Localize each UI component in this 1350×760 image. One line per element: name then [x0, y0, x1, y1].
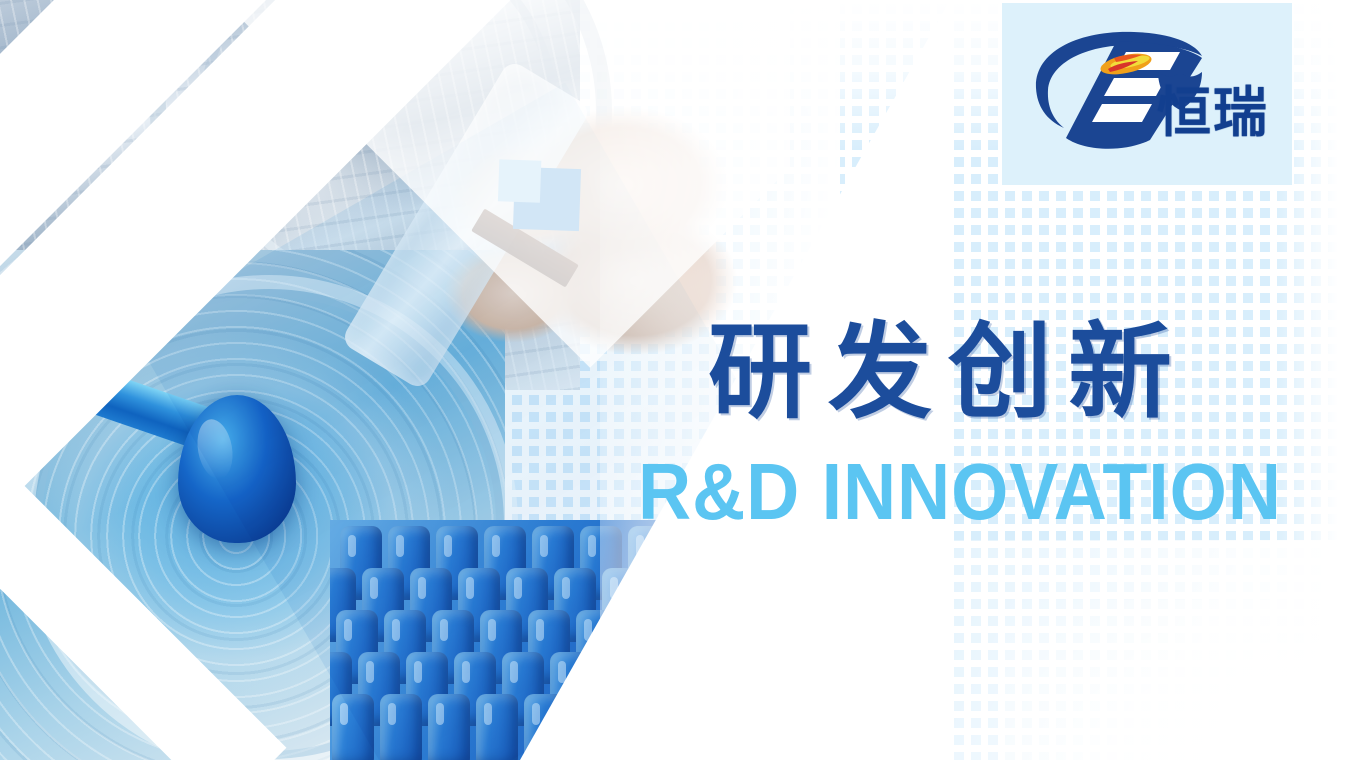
logo-company-name: 恒瑞 — [1157, 86, 1269, 140]
headline-chinese: 研发创新 — [708, 320, 1188, 424]
rd-innovation-banner: 恒瑞 研发创新 R&D INNOVATION — [0, 0, 1350, 760]
headline-english: R&D INNOVATION — [638, 452, 1282, 532]
